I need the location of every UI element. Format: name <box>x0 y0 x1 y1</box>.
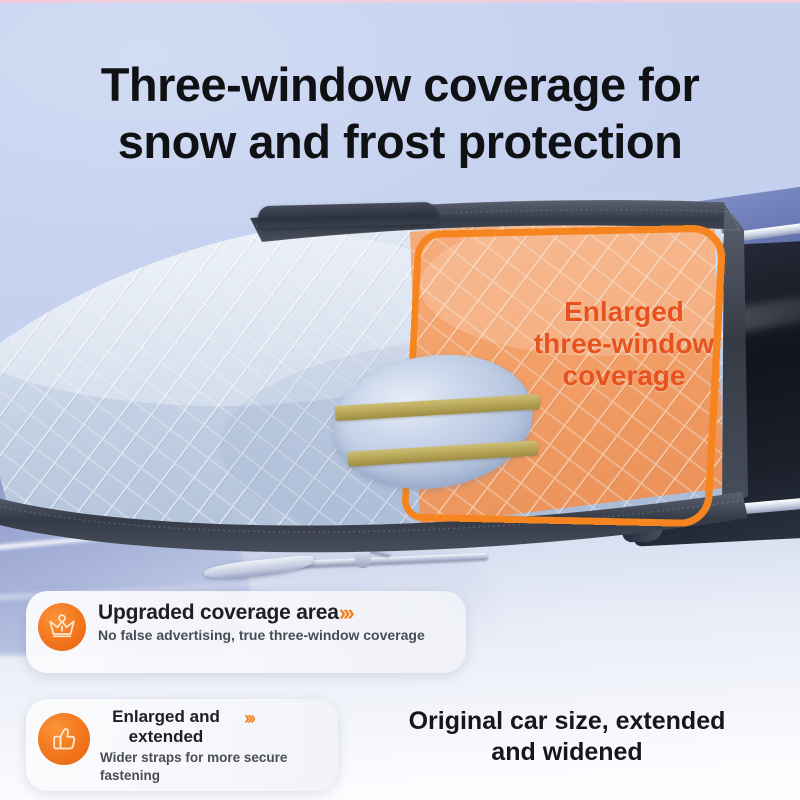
feature-card-2-subtitle: Wider straps for more secure fastening <box>100 749 326 784</box>
headline-line-1: Three-window coverage for <box>0 56 800 113</box>
feature-card-1-text: Upgraded coverage area ››› No false adve… <box>98 601 452 645</box>
feature-card-2-title-line-1: Enlarged and <box>100 707 232 727</box>
windshield-snow-cover: Enlarged three-window coverage <box>0 196 800 566</box>
crown-icon <box>38 603 86 651</box>
product-scene: Enlarged three-window coverage Three-win… <box>0 0 800 800</box>
feature-card-upgraded-coverage[interactable]: Upgraded coverage area ››› No false adve… <box>26 591 466 673</box>
feature-card-1-title: Upgraded coverage area <box>98 601 339 625</box>
chevrons-right-icon: ››› <box>339 602 352 624</box>
thumbs-up-icon <box>38 713 90 765</box>
feature-card-enlarged-extended[interactable]: Enlarged and extended ››› Wider straps f… <box>26 699 338 791</box>
chevrons-right-icon: ››› <box>244 709 253 727</box>
tagline-line-2: and widened <box>352 737 782 768</box>
tagline-line-1: Original car size, extended <box>352 706 782 737</box>
feature-card-1-title-row: Upgraded coverage area ››› <box>98 601 452 625</box>
headline-line-2: snow and frost protection <box>0 113 800 170</box>
page-title: Three-window coverage for snow and frost… <box>0 56 800 171</box>
feature-card-2-text: Enlarged and extended ››› Wider straps f… <box>100 707 326 784</box>
callout-line-1: Enlarged <box>516 296 732 328</box>
feature-card-2-title: Enlarged and extended <box>100 707 232 746</box>
bottom-tagline: Original car size, extended and widened <box>352 706 782 769</box>
callout-line-3: coverage <box>516 360 732 392</box>
feature-card-2-title-line-2: extended <box>100 727 232 747</box>
cover-top-flap <box>258 202 438 228</box>
top-accent-line <box>0 0 800 3</box>
coverage-callout: Enlarged three-window coverage <box>516 296 732 393</box>
feature-card-1-subtitle: No false advertising, true three-window … <box>98 627 452 645</box>
callout-line-2: three-window <box>516 328 732 360</box>
feature-card-2-title-row: Enlarged and extended ››› <box>100 707 326 746</box>
